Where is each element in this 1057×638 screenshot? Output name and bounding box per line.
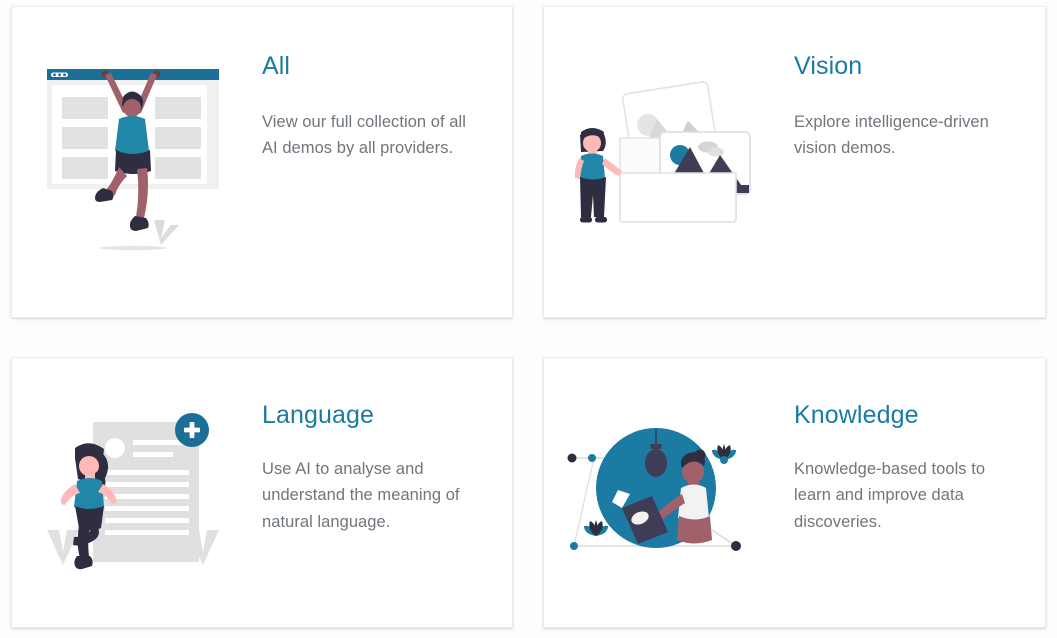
card-description-knowledge: Knowledge-based tools to learn and impro… <box>794 456 1004 536</box>
category-card-language[interactable]: Language Use AI to analyse and understan… <box>11 357 513 628</box>
card-title-language: Language <box>262 402 494 430</box>
card-slot-knowledge: Knowledge Knowledge-based tools to learn… <box>528 348 1057 638</box>
card-title-vision: Vision <box>794 53 1027 81</box>
card-slot-all: All View our full collection of all AI d… <box>0 0 528 348</box>
card-description-vision: Explore intelligence-driven vision demos… <box>794 109 1004 162</box>
card-text-all: All View our full collection of all AI d… <box>262 7 512 162</box>
card-description-all: View our full collection of all AI demos… <box>262 109 472 162</box>
document-person-plus-badge-illustration <box>37 400 237 585</box>
card-text-vision: Vision Explore intelligence-driven visio… <box>794 7 1045 162</box>
card-text-knowledge: Knowledge Knowledge-based tools to learn… <box>794 358 1045 536</box>
card-title-knowledge: Knowledge <box>794 402 1027 430</box>
photos-folder-person-illustration <box>564 75 774 250</box>
illustration-knowledge-wrap <box>544 410 794 575</box>
category-card-all[interactable]: All View our full collection of all AI d… <box>11 6 513 318</box>
illustration-all-wrap <box>12 55 262 270</box>
card-slot-language: Language Use AI to analyse and understan… <box>0 348 528 638</box>
category-card-vision[interactable]: Vision Explore intelligence-driven visio… <box>543 6 1046 318</box>
browser-window-celebrating-person-illustration <box>37 55 237 270</box>
illustration-language-wrap <box>12 400 262 585</box>
category-card-knowledge[interactable]: Knowledge Knowledge-based tools to learn… <box>543 357 1046 628</box>
card-slot-vision: Vision Explore intelligence-driven visio… <box>528 0 1057 348</box>
card-text-language: Language Use AI to analyse and understan… <box>262 358 512 536</box>
card-title-all: All <box>262 53 494 81</box>
illustration-vision-wrap <box>544 75 794 250</box>
reading-person-lightbulb-circle-illustration <box>564 410 774 575</box>
category-card-grid: All View our full collection of all AI d… <box>0 0 1057 638</box>
card-description-language: Use AI to analyse and understand the mea… <box>262 456 472 536</box>
